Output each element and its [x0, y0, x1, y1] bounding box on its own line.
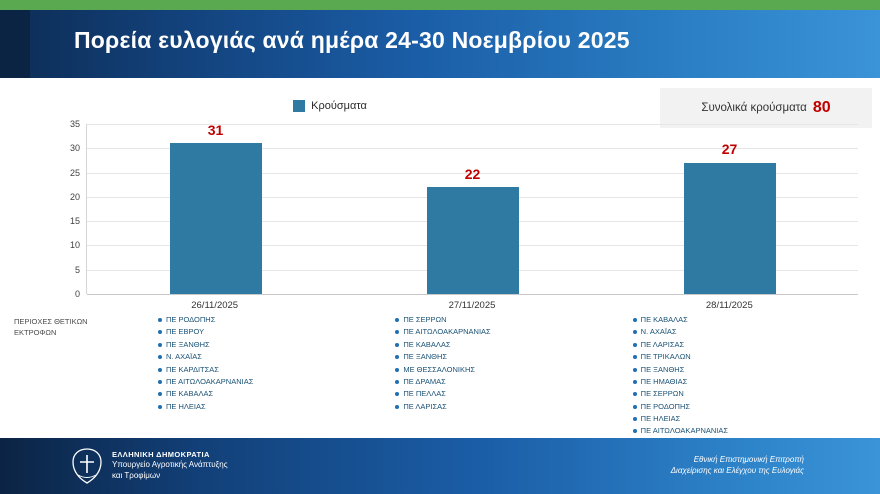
total-cases-box: Συνολικά κρούσματα 80	[660, 88, 872, 128]
list-item: ΠΕ ΑΙΤΩΛΟΑΚΑΡΝΑΝΙΑΣ	[158, 376, 387, 388]
top-accent-bar	[0, 0, 880, 10]
region-label: ΜΕ ΘΕΣΣΑΛΟΝΙΚΗΣ	[403, 365, 475, 374]
bullet-icon	[395, 368, 399, 372]
region-label: ΠΕ ΑΙΤΩΛΟΑΚΑΡΝΑΝΙΑΣ	[166, 377, 253, 386]
bullet-icon	[158, 330, 162, 334]
y-tick-35: 35	[70, 119, 80, 129]
bullet-icon	[158, 343, 162, 347]
bullet-icon	[633, 405, 637, 409]
list-item: ΠΕ ΞΑΝΘΗΣ	[158, 339, 387, 351]
regions-caption-line1: ΠΕΡΙΟΧΕΣ ΘΕΤΙΚΩΝ	[14, 316, 124, 327]
bar-28-11-2025[interactable]	[684, 163, 776, 294]
footer-left-line1: ΕΛΛΗΝΙΚΗ ΔΗΜΟΚΡΑΤΙΑ	[112, 450, 228, 460]
region-label: ΠΕ ΣΕΡΡΩΝ	[641, 389, 684, 398]
region-label: ΠΕ ΑΙΤΩΛΟΑΚΑΡΝΑΝΙΑΣ	[403, 327, 490, 336]
region-label: ΠΕ ΞΑΝΘΗΣ	[403, 352, 447, 361]
list-item: ΠΕ ΕΒΡΟΥ	[158, 326, 387, 338]
y-axis: 0 5 10 15 20 25 30 35	[48, 124, 84, 294]
bullet-icon	[633, 368, 637, 372]
list-item: ΜΕ ΘΕΣΣΑΛΟΝΙΚΗΣ	[395, 364, 624, 376]
list-item: ΠΕ ΠΕΛΛΑΣ	[395, 388, 624, 400]
region-label: ΠΕ ΞΑΝΘΗΣ	[641, 365, 685, 374]
list-item: ΠΕ ΗΛΕΙΑΣ	[633, 413, 862, 425]
region-label: ΠΕ ΠΕΛΛΑΣ	[403, 389, 446, 398]
x-label-0: 26/11/2025	[86, 300, 343, 311]
region-label: ΠΕ ΔΡΑΜΑΣ	[403, 377, 445, 386]
bullet-icon	[158, 368, 162, 372]
bar-27-11-2025[interactable]	[427, 187, 519, 294]
bullet-icon	[633, 355, 637, 359]
y-tick-20: 20	[70, 192, 80, 202]
bullet-icon	[395, 330, 399, 334]
legend-label-krousmata: Κρούσματα	[311, 100, 367, 112]
list-item: ΠΕ ΗΜΑΘΙΑΣ	[633, 376, 862, 388]
footer-right-line2: Διαχείρισης και Ελέγχου της Ευλογιάς	[671, 465, 804, 476]
list-item: Ν. ΑΧΑΪΑΣ	[633, 326, 862, 338]
region-label: ΠΕ ΛΑΡΙΣΑΣ	[403, 402, 446, 411]
region-label: ΠΕ ΚΑΒΑΛΑΣ	[403, 340, 450, 349]
header-left-cap	[0, 10, 30, 78]
bullet-icon	[395, 405, 399, 409]
bar-value-1: 22	[465, 166, 481, 182]
bullet-icon	[158, 392, 162, 396]
footer-left-line3: και Τροφίμων	[112, 471, 228, 482]
bullet-icon	[395, 355, 399, 359]
legend-swatch-krousmata	[293, 100, 305, 112]
plot-grid: 31 22 27	[86, 124, 858, 294]
bar-slot-0: 31	[87, 124, 344, 294]
bullet-icon	[633, 343, 637, 347]
list-item: ΠΕ ΤΡΙΚΑΛΩΝ	[633, 351, 862, 363]
bar-slot-1: 22	[344, 124, 601, 294]
total-cases-value: 80	[813, 99, 831, 117]
regions-column-27-11-2025: ΠΕ ΣΕΡΡΩΝ ΠΕ ΑΙΤΩΛΟΑΚΑΡΝΑΝΙΑΣ ΠΕ ΚΑΒΑΛΑΣ…	[395, 314, 632, 450]
bullet-icon	[158, 405, 162, 409]
footer-right-text: Εθνική Επιστημονική Επιτροπή Διαχείρισης…	[671, 454, 804, 476]
footer-left-text: ΕΛΛΗΝΙΚΗ ΔΗΜΟΚΡΑΤΙΑ Υπουργείο Αγροτικής …	[112, 450, 228, 482]
list-item: ΠΕ ΛΑΡΙΣΑΣ	[633, 339, 862, 351]
list-item: ΠΕ ΚΑΒΑΛΑΣ	[158, 388, 387, 400]
bullet-icon	[395, 380, 399, 384]
regions-column-26-11-2025: ΠΕ ΡΟΔΟΠΗΣ ΠΕ ΕΒΡΟΥ ΠΕ ΞΑΝΘΗΣ Ν. ΑΧΑΪΑΣ …	[158, 314, 395, 450]
x-axis-labels: 26/11/2025 27/11/2025 28/11/2025	[86, 300, 858, 311]
y-tick-0: 0	[75, 289, 80, 299]
bullet-icon	[158, 318, 162, 322]
list-item: ΠΕ ΔΡΑΜΑΣ	[395, 376, 624, 388]
regions-caption: ΠΕΡΙΟΧΕΣ ΘΕΤΙΚΩΝ ΕΚΤΡΟΦΩΝ	[14, 316, 124, 339]
region-label: ΠΕ ΛΑΡΙΣΑΣ	[641, 340, 684, 349]
chart-area: Κρούσματα Συνολικά κρούσματα 80 0 5 10 1…	[0, 78, 880, 438]
list-item: ΠΕ ΣΕΡΡΩΝ	[633, 388, 862, 400]
bullet-icon	[158, 380, 162, 384]
regions-lists: ΠΕ ΡΟΔΟΠΗΣ ΠΕ ΕΒΡΟΥ ΠΕ ΞΑΝΘΗΣ Ν. ΑΧΑΪΑΣ …	[158, 314, 870, 450]
region-label: ΠΕ ΤΡΙΚΑΛΩΝ	[641, 352, 691, 361]
bar-group: 31 22 27	[87, 124, 858, 294]
slide-root: Πορεία ευλογιάς ανά ημέρα 24-30 Νοεμβρίο…	[0, 0, 880, 494]
list-item: ΠΕ ΣΕΡΡΩΝ	[395, 314, 624, 326]
bar-26-11-2025[interactable]	[170, 143, 262, 294]
region-label: Ν. ΑΧΑΪΑΣ	[641, 327, 677, 336]
bar-slot-2: 27	[601, 124, 858, 294]
page-title: Πορεία ευλογιάς ανά ημέρα 24-30 Νοεμβρίο…	[74, 27, 630, 54]
region-label: ΠΕ ΕΒΡΟΥ	[166, 327, 204, 336]
list-item: ΠΕ ΚΑΒΑΛΑΣ	[633, 314, 862, 326]
region-label: ΠΕ ΡΟΔΟΠΗΣ	[166, 315, 215, 324]
y-tick-25: 25	[70, 168, 80, 178]
regions-column-28-11-2025: ΠΕ ΚΑΒΑΛΑΣ Ν. ΑΧΑΪΑΣ ΠΕ ΛΑΡΙΣΑΣ ΠΕ ΤΡΙΚΑ…	[633, 314, 870, 450]
y-tick-5: 5	[75, 265, 80, 275]
y-tick-10: 10	[70, 240, 80, 250]
list-item: ΠΕ ΡΟΔΟΠΗΣ	[633, 401, 862, 413]
region-label: ΠΕ ΚΑΒΑΛΑΣ	[166, 389, 213, 398]
region-label: ΠΕ ΡΟΔΟΠΗΣ	[641, 402, 690, 411]
chart-legend: Κρούσματα	[0, 100, 660, 112]
bullet-icon	[633, 330, 637, 334]
region-label: ΠΕ ΚΑΡΔΙΤΣΑΣ	[166, 365, 219, 374]
x-label-2: 28/11/2025	[601, 300, 858, 311]
bullet-icon	[633, 318, 637, 322]
footer-band: ΕΛΛΗΝΙΚΗ ΔΗΜΟΚΡΑΤΙΑ Υπουργείο Αγροτικής …	[0, 438, 880, 494]
gridline-0	[87, 294, 858, 295]
greek-republic-emblem-icon	[70, 448, 104, 484]
list-item: ΠΕ ΑΙΤΩΛΟΑΚΑΡΝΑΝΙΑΣ	[633, 425, 862, 437]
bullet-icon	[633, 417, 637, 421]
list-item: ΠΕ ΛΑΡΙΣΑΣ	[395, 401, 624, 413]
list-item: ΠΕ ΡΟΔΟΠΗΣ	[158, 314, 387, 326]
total-cases-label: Συνολικά κρούσματα	[701, 102, 806, 114]
footer-right-line1: Εθνική Επιστημονική Επιτροπή	[671, 454, 804, 465]
list-item: ΠΕ ΚΑΒΑΛΑΣ	[395, 339, 624, 351]
list-item: ΠΕ ΞΑΝΘΗΣ	[633, 364, 862, 376]
y-tick-30: 30	[70, 143, 80, 153]
footer-left-line2: Υπουργείο Αγροτικής Ανάπτυξης	[112, 460, 228, 471]
region-label: ΠΕ ΣΕΡΡΩΝ	[403, 315, 446, 324]
bullet-icon	[395, 343, 399, 347]
bullet-icon	[395, 318, 399, 322]
region-label: ΠΕ ΚΑΒΑΛΑΣ	[641, 315, 688, 324]
bullet-icon	[633, 392, 637, 396]
bullet-icon	[633, 380, 637, 384]
bar-value-2: 27	[722, 141, 738, 157]
bullet-icon	[395, 392, 399, 396]
bullet-icon	[158, 355, 162, 359]
bar-value-0: 31	[208, 122, 224, 138]
list-item: ΠΕ ΗΛΕΙΑΣ	[158, 401, 387, 413]
list-item: ΠΕ ΚΑΡΔΙΤΣΑΣ	[158, 364, 387, 376]
region-label: ΠΕ ΑΙΤΩΛΟΑΚΑΡΝΑΝΙΑΣ	[641, 426, 728, 435]
region-label: ΠΕ ΞΑΝΘΗΣ	[166, 340, 210, 349]
y-tick-15: 15	[70, 216, 80, 226]
region-label: ΠΕ ΗΛΕΙΑΣ	[166, 402, 206, 411]
list-item: ΠΕ ΑΙΤΩΛΟΑΚΑΡΝΑΝΙΑΣ	[395, 326, 624, 338]
regions-caption-line2: ΕΚΤΡΟΦΩΝ	[14, 327, 124, 338]
bullet-icon	[633, 429, 637, 433]
region-label: Ν. ΑΧΑΪΑΣ	[166, 352, 202, 361]
list-item: Ν. ΑΧΑΪΑΣ	[158, 351, 387, 363]
list-item: ΠΕ ΞΑΝΘΗΣ	[395, 351, 624, 363]
region-label: ΠΕ ΗΛΕΙΑΣ	[641, 414, 681, 423]
region-label: ΠΕ ΗΜΑΘΙΑΣ	[641, 377, 688, 386]
x-label-1: 27/11/2025	[343, 300, 600, 311]
